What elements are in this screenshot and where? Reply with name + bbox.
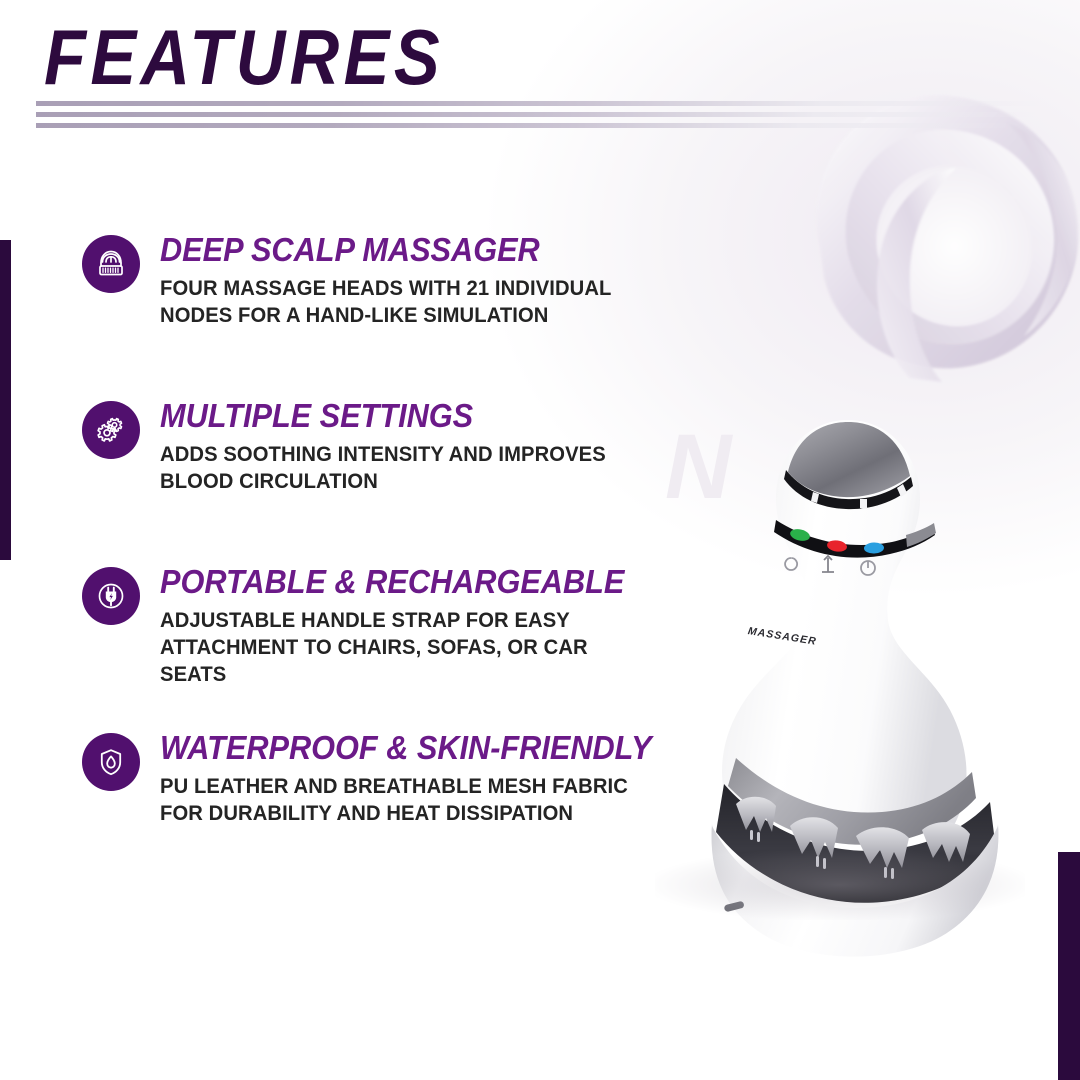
page-title: FEATURES [44, 18, 607, 96]
feature-description: FOUR MASSAGE HEADS WITH 21 INDIVIDUAL NO… [160, 275, 651, 329]
mode-icon [785, 558, 797, 570]
feature-item: WATERPROOF & SKIN-FRIENDLY PU LEATHER AN… [82, 731, 682, 897]
feature-list: DEEP SCALP MASSAGER FOUR MASSAGE HEADS W… [82, 233, 682, 897]
infographic-canvas: FEATURES DEEP SCALP MASSAGER [0, 0, 1080, 1080]
feature-text: WATERPROOF & SKIN-FRIENDLY PU LEATHER AN… [82, 731, 682, 827]
feature-heading: WATERPROOF & SKIN-FRIENDLY [160, 731, 645, 766]
header: FEATURES [44, 18, 684, 96]
feature-heading: PORTABLE & RECHARGEABLE [160, 565, 645, 600]
feature-text: PORTABLE & RECHARGEABLE ADJUSTABLE HANDL… [82, 565, 682, 688]
feature-description: ADDS SOOTHING INTENSITY AND IMPROVES BLO… [160, 441, 651, 495]
power-plug-icon [82, 567, 140, 625]
ghost-watermark-letter: N [665, 415, 731, 520]
rule-line-1 [36, 101, 1046, 106]
massager-head-icon [82, 235, 140, 293]
feature-item: DEEP SCALP MASSAGER FOUR MASSAGE HEADS W… [82, 233, 682, 399]
feature-description: PU LEATHER AND BREATHABLE MESH FABRIC FO… [160, 773, 651, 827]
feature-heading: DEEP SCALP MASSAGER [160, 233, 645, 268]
feature-item: PORTABLE & RECHARGEABLE ADJUSTABLE HANDL… [82, 565, 682, 731]
feature-description: ADJUSTABLE HANDLE STRAP FOR EASY ATTACHM… [160, 607, 651, 688]
product-image: N [620, 380, 1080, 960]
rule-line-3 [36, 123, 1016, 128]
product-shadow [655, 850, 1025, 920]
feature-text: MULTIPLE SETTINGS ADDS SOOTHING INTENSIT… [82, 399, 682, 495]
feature-item: MULTIPLE SETTINGS ADDS SOOTHING INTENSIT… [82, 399, 682, 565]
rule-line-2 [36, 112, 1036, 117]
title-underline-rules [36, 101, 1046, 134]
left-accent-bar [0, 240, 11, 560]
feature-text: DEEP SCALP MASSAGER FOUR MASSAGE HEADS W… [82, 233, 682, 329]
shield-droplet-icon [82, 733, 140, 791]
gears-icon [82, 401, 140, 459]
feature-heading: MULTIPLE SETTINGS [160, 399, 645, 434]
